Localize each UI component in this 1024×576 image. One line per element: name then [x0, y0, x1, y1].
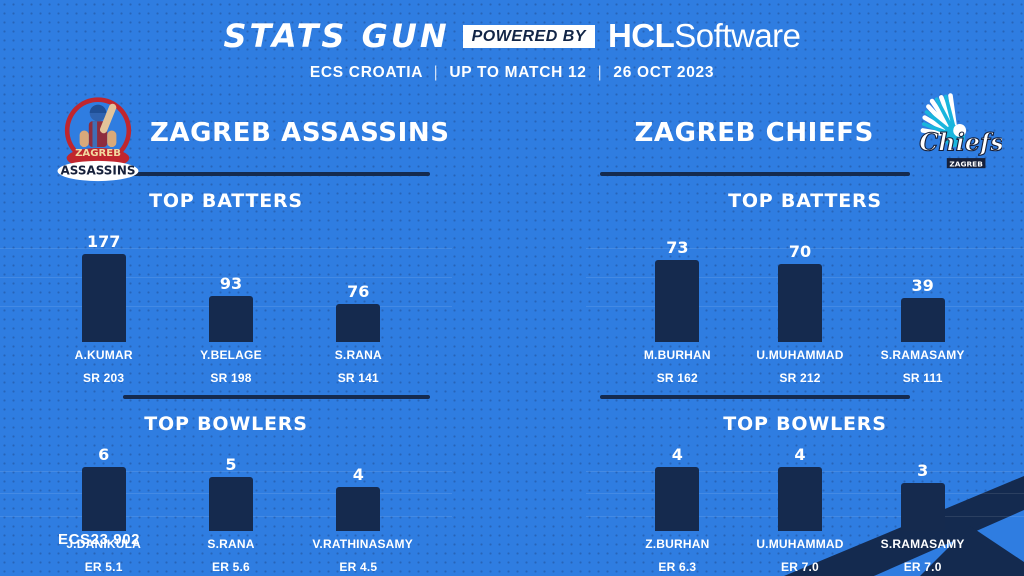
bar-shape: [336, 304, 380, 342]
player-name: S.RANA: [312, 348, 404, 362]
player-name: S.RANA: [185, 537, 277, 551]
header: STATS GUN POWERED BY HCLSoftware ECS CRO…: [0, 0, 1024, 82]
player-stat: ER 6.3: [631, 560, 723, 574]
bar-value: 70: [789, 244, 811, 260]
player-name: Z.BURHAN: [631, 537, 723, 551]
label-column: S.RANA SR 141: [312, 342, 404, 385]
player-name: V.RATHINASAMY: [312, 537, 404, 551]
svg-text:Chiefs: Chiefs: [919, 129, 1002, 157]
player-name: U.MUHAMMAD: [754, 537, 846, 551]
player-stat: SR 162: [631, 371, 723, 385]
bar-value: 73: [666, 240, 688, 256]
label-column: S.RANA ER 5.6: [185, 531, 277, 574]
player-name: A.KUMAR: [58, 348, 150, 362]
section-divider-right: [600, 395, 910, 399]
bar-value: 6: [98, 447, 109, 463]
bar-shape: [901, 483, 945, 531]
team-panel-right: ZAGREB CHIEFS Chiefs ZAGREB TOP BATTERS: [512, 94, 1024, 574]
match-info: UP TO MATCH 12: [449, 64, 586, 81]
footer-reference-code: ECS23.902: [58, 531, 140, 548]
bar-column: 73: [631, 222, 723, 342]
subtitle-bar: ECS CROATIA | UP TO MATCH 12 | 26 OCT 20…: [0, 64, 1024, 82]
labels-batters-right: M.BURHAN SR 162 U.MUHAMMAD SR 212 S.RAMA…: [586, 342, 1024, 385]
player-name: S.RAMASAMY: [877, 537, 969, 551]
bar-value: 76: [347, 284, 369, 300]
player-stat: SR 198: [185, 371, 277, 385]
bar-shape: [655, 467, 699, 531]
bar-column: 70: [754, 222, 846, 342]
team-panel-left: ZAGREB ASSASSINS ZAGREB ASSASSINS TOP BA…: [0, 94, 512, 574]
svg-text:ASSASSINS: ASSASSINS: [61, 164, 136, 178]
label-column: A.KUMAR SR 203: [58, 342, 150, 385]
team-divider-left: [123, 172, 430, 176]
label-column: M.BURHAN SR 162: [631, 342, 723, 385]
player-name: S.RAMASAMY: [877, 348, 969, 362]
section-title-bowlers-right: TOP BOWLERS: [512, 413, 1024, 435]
labels-batters-left: A.KUMAR SR 203 Y.BELAGE SR 198 S.RANA SR…: [0, 342, 452, 385]
subtitle-separator-1: |: [428, 64, 445, 81]
bar-column: 6: [58, 445, 150, 531]
label-column: S.RAMASAMY ER 7.0: [877, 531, 969, 574]
player-stat: SR 111: [877, 371, 969, 385]
chart-bowlers-right: 4 4 3: [586, 445, 1024, 531]
bar-column: 4: [631, 445, 723, 531]
player-stat: SR 203: [58, 371, 150, 385]
bar-shape: [82, 254, 126, 342]
bar-value: 4: [672, 447, 683, 463]
bar-value: 5: [225, 457, 236, 473]
label-column: U.MUHAMMAD ER 7.0: [754, 531, 846, 574]
chart-batters-right: 73 70 39: [586, 222, 1024, 342]
player-stat: SR 141: [312, 371, 404, 385]
team-divider-right: [600, 172, 910, 176]
label-column: Y.BELAGE SR 198: [185, 342, 277, 385]
bar-value: 93: [220, 276, 242, 292]
bar-column: 4: [754, 445, 846, 531]
hcl-software-logo: HCLSoftware: [608, 17, 801, 55]
league-name: ECS CROATIA: [310, 64, 423, 81]
bar-column: 76: [312, 222, 404, 342]
label-column: V.RATHINASAMY ER 4.5: [312, 531, 404, 574]
team-header-right: ZAGREB CHIEFS Chiefs ZAGREB: [512, 94, 1024, 172]
section-title-bowlers-left: TOP BOWLERS: [0, 413, 512, 435]
bar-shape: [778, 467, 822, 531]
chart-batters-left: 177 93 76: [0, 222, 452, 342]
team-panels: ZAGREB ASSASSINS ZAGREB ASSASSINS TOP BA…: [0, 94, 1024, 574]
bar-shape: [901, 298, 945, 342]
svg-text:ZAGREB: ZAGREB: [949, 159, 983, 168]
player-stat: ER 5.1: [58, 560, 150, 574]
bar-column: 4: [312, 445, 404, 531]
bar-value: 39: [912, 278, 934, 294]
chart-bowlers-left: 6 5 4: [0, 445, 452, 531]
section-title-batters-right: TOP BATTERS: [512, 190, 1024, 212]
bar-shape: [778, 264, 822, 342]
section-title-batters-left: TOP BATTERS: [0, 190, 512, 212]
section-divider-left: [123, 395, 430, 399]
bar-column: 93: [185, 222, 277, 342]
player-name: M.BURHAN: [631, 348, 723, 362]
zagreb-assassins-logo: ZAGREB ASSASSINS: [52, 90, 144, 182]
bar-column: 39: [877, 222, 969, 342]
stats-gun-wordmark: STATS GUN: [223, 17, 449, 55]
player-name: Y.BELAGE: [185, 348, 277, 362]
bar-shape: [82, 467, 126, 531]
zagreb-chiefs-logo: Chiefs ZAGREB: [910, 90, 1002, 182]
hcl-bold-text: HCL: [608, 17, 674, 54]
team-name-right: ZAGREB CHIEFS: [634, 118, 874, 148]
team-header-left: ZAGREB ASSASSINS ZAGREB ASSASSINS: [0, 94, 512, 172]
team-name-left: ZAGREB ASSASSINS: [150, 118, 450, 148]
bar-shape: [209, 296, 253, 342]
bar-value: 4: [353, 467, 364, 483]
powered-by-badge: POWERED BY: [463, 25, 595, 48]
bar-column: 3: [877, 445, 969, 531]
player-stat: ER 4.5: [312, 560, 404, 574]
bar-column: 5: [185, 445, 277, 531]
bar-column: 177: [58, 222, 150, 342]
bar-shape: [655, 260, 699, 342]
labels-bowlers-right: Z.BURHAN ER 6.3 U.MUHAMMAD ER 7.0 S.RAMA…: [586, 531, 1024, 574]
label-column: Z.BURHAN ER 6.3: [631, 531, 723, 574]
player-stat: ER 7.0: [754, 560, 846, 574]
hcl-light-text: Software: [674, 17, 800, 54]
bar-shape: [209, 477, 253, 531]
bar-value: 177: [87, 234, 120, 250]
bar-value: 3: [917, 463, 928, 479]
match-date: 26 OCT 2023: [613, 64, 714, 81]
subtitle-separator-2: |: [592, 64, 609, 81]
bar-value: 4: [794, 447, 805, 463]
label-column: S.RAMASAMY SR 111: [877, 342, 969, 385]
bar-shape: [336, 487, 380, 531]
svg-text:ZAGREB: ZAGREB: [75, 148, 121, 159]
player-stat: ER 7.0: [877, 560, 969, 574]
label-column: U.MUHAMMAD SR 212: [754, 342, 846, 385]
player-name: U.MUHAMMAD: [754, 348, 846, 362]
player-stat: ER 5.6: [185, 560, 277, 574]
player-stat: SR 212: [754, 371, 846, 385]
